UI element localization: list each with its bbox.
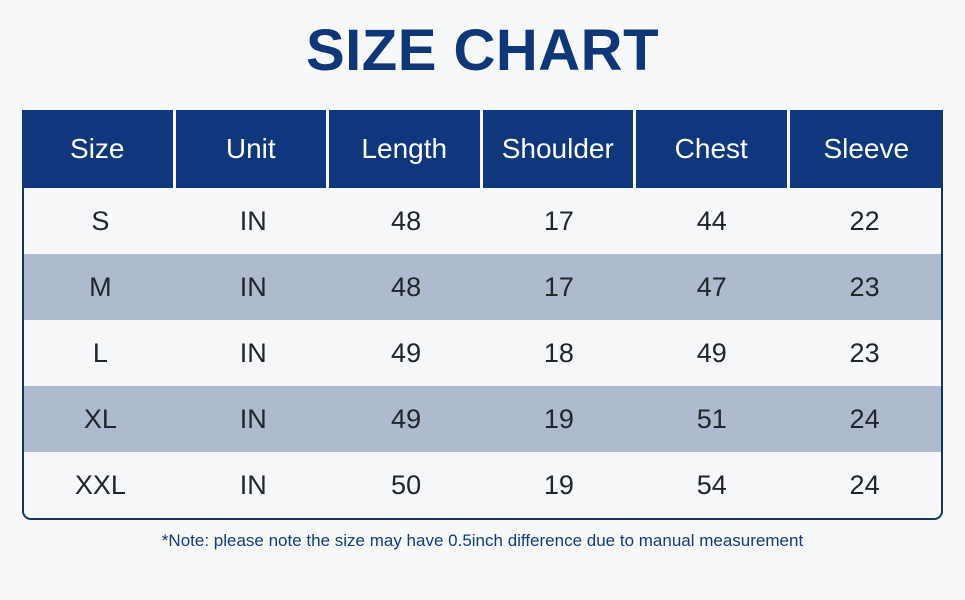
column-header-chest: Chest	[636, 110, 790, 188]
cell-shoulder: 17	[482, 254, 635, 320]
column-header-sleeve: Sleeve	[790, 110, 944, 188]
cell-unit: IN	[177, 188, 330, 254]
size-table-body-box: S IN 48 17 44 22 M IN 48 17 47 23	[22, 188, 943, 520]
cell-chest: 44	[635, 188, 788, 254]
cell-unit: IN	[177, 254, 330, 320]
size-table-container: Size Unit Length Shoulder Chest Sleeve S…	[22, 110, 943, 520]
cell-length: 49	[330, 386, 483, 452]
cell-sleeve: 23	[788, 320, 941, 386]
cell-length: 50	[330, 452, 483, 518]
cell-unit: IN	[177, 386, 330, 452]
table-row: L IN 49 18 49 23	[24, 320, 941, 386]
cell-sleeve: 23	[788, 254, 941, 320]
table-row: XXL IN 50 19 54 24	[24, 452, 941, 518]
cell-chest: 54	[635, 452, 788, 518]
page-title: SIZE CHART	[0, 0, 965, 80]
column-header-unit: Unit	[176, 110, 330, 188]
cell-sleeve: 24	[788, 452, 941, 518]
size-table-body: S IN 48 17 44 22 M IN 48 17 47 23	[24, 188, 941, 518]
table-header-row: Size Unit Length Shoulder Chest Sleeve	[22, 110, 943, 188]
cell-size: L	[24, 320, 177, 386]
cell-unit: IN	[177, 320, 330, 386]
cell-shoulder: 19	[482, 386, 635, 452]
cell-length: 48	[330, 188, 483, 254]
cell-length: 48	[330, 254, 483, 320]
size-table-header: Size Unit Length Shoulder Chest Sleeve	[22, 110, 943, 188]
measurement-note: *Note: please note the size may have 0.5…	[0, 531, 965, 551]
cell-sleeve: 24	[788, 386, 941, 452]
cell-chest: 51	[635, 386, 788, 452]
cell-shoulder: 19	[482, 452, 635, 518]
cell-chest: 47	[635, 254, 788, 320]
cell-size: S	[24, 188, 177, 254]
cell-length: 49	[330, 320, 483, 386]
table-row: S IN 48 17 44 22	[24, 188, 941, 254]
cell-size: XXL	[24, 452, 177, 518]
column-header-length: Length	[329, 110, 483, 188]
cell-unit: IN	[177, 452, 330, 518]
cell-size: XL	[24, 386, 177, 452]
column-header-shoulder: Shoulder	[483, 110, 637, 188]
cell-sleeve: 22	[788, 188, 941, 254]
cell-chest: 49	[635, 320, 788, 386]
cell-size: M	[24, 254, 177, 320]
cell-shoulder: 17	[482, 188, 635, 254]
table-row: XL IN 49 19 51 24	[24, 386, 941, 452]
column-header-size: Size	[22, 110, 176, 188]
table-row: M IN 48 17 47 23	[24, 254, 941, 320]
size-chart-page: SIZE CHART Size Unit Length Shoulder Che…	[0, 0, 965, 600]
cell-shoulder: 18	[482, 320, 635, 386]
